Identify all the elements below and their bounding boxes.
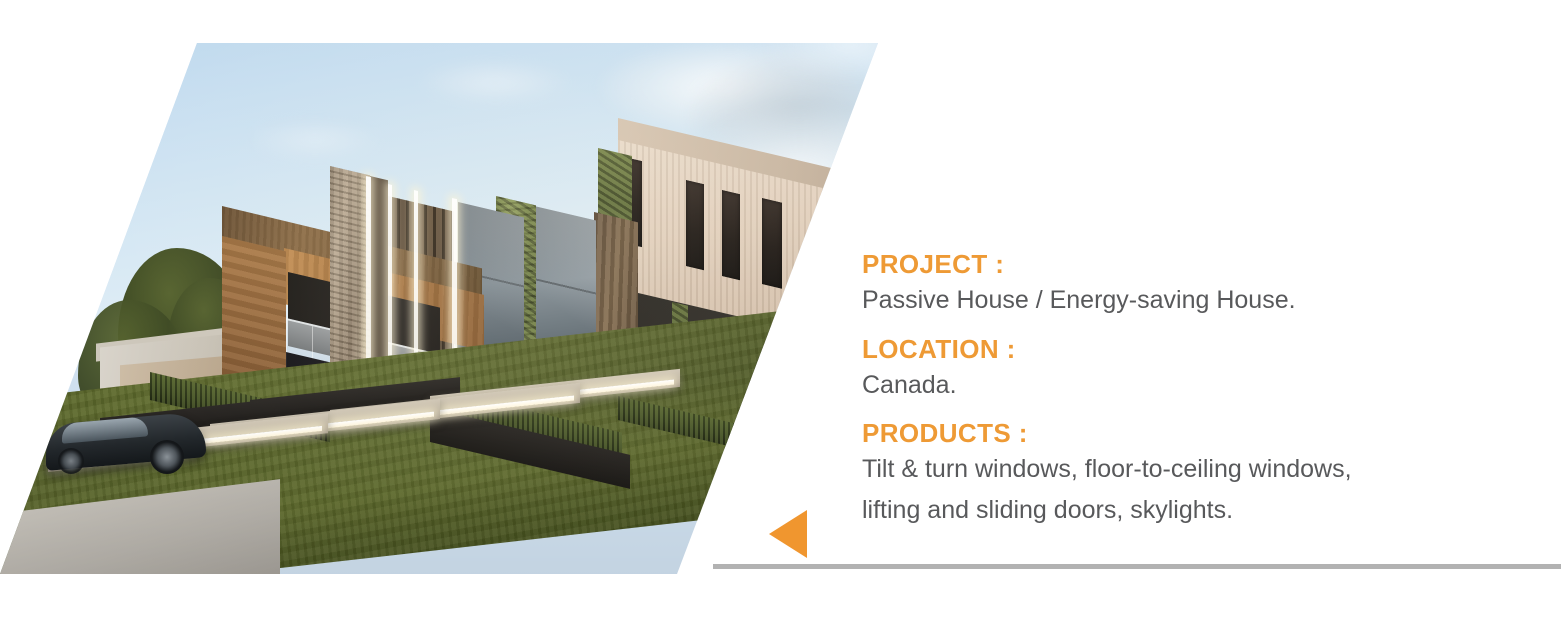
- photo-canvas: [0, 0, 880, 580]
- info-block-location: LOCATION : Canada.: [862, 335, 1482, 404]
- project-info-panel: PROJECT : Passive House / Energy-saving …: [862, 250, 1482, 530]
- project-heading: PROJECT :: [862, 250, 1482, 278]
- narrow-window: [722, 190, 740, 280]
- slide-root: PROJECT : Passive House / Energy-saving …: [0, 0, 1564, 626]
- products-heading: PRODUCTS :: [862, 419, 1482, 447]
- cloud: [420, 60, 570, 105]
- cloud: [250, 120, 380, 160]
- project-photo: [0, 0, 880, 580]
- products-value-line-1: Tilt & turn windows, floor-to-ceiling wi…: [862, 452, 1482, 488]
- location-heading: LOCATION :: [862, 335, 1482, 363]
- products-value-line-2: lifting and sliding doors, skylights.: [862, 493, 1482, 529]
- info-block-products: PRODUCTS : Tilt & turn windows, floor-to…: [862, 419, 1482, 528]
- horizontal-divider: [713, 564, 1561, 569]
- info-block-project: PROJECT : Passive House / Energy-saving …: [862, 250, 1482, 319]
- car-wheel: [150, 440, 184, 474]
- narrow-window: [762, 198, 782, 289]
- car-wheel: [58, 448, 84, 474]
- narrow-window: [686, 180, 704, 270]
- project-value: Passive House / Energy-saving House.: [862, 283, 1482, 319]
- location-value: Canada.: [862, 368, 1482, 404]
- triangle-left-icon: [769, 510, 807, 558]
